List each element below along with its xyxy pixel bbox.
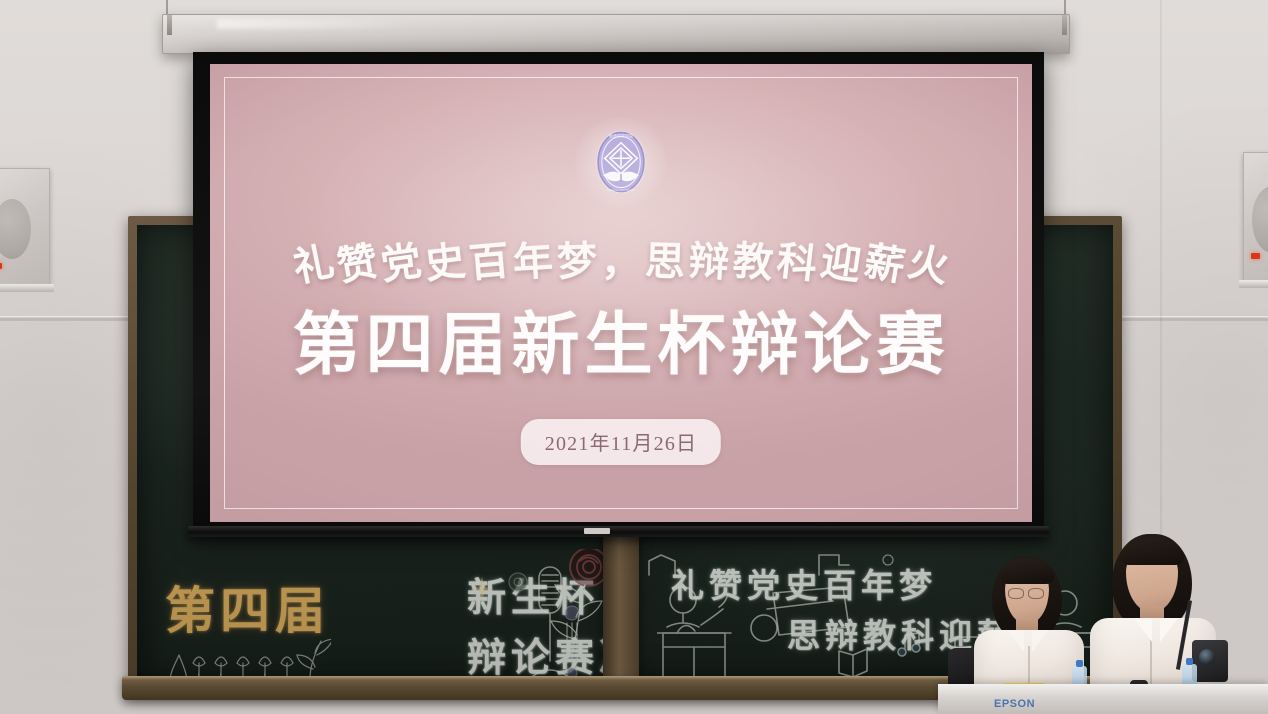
open-book-drawing — [835, 645, 871, 679]
speaker-at-podium-drawing — [657, 585, 751, 685]
slide-subtitle-char: 史 — [423, 241, 467, 285]
slide-subtitle-char: 赞 — [334, 241, 380, 287]
slide-subtitle-char: 迎 — [818, 241, 863, 286]
flag-drawing — [817, 551, 851, 577]
speaker-led-icon — [0, 263, 2, 269]
wall-speaker-right — [1243, 152, 1268, 282]
podium-logo: EPSON — [994, 698, 1035, 710]
chalk-text-left-line1: 第四届 — [165, 571, 330, 643]
slide-subtitle-char: 礼 — [290, 242, 337, 289]
screen-bottom-weight-bar — [188, 526, 1049, 537]
small-circle-drawing — [881, 553, 895, 567]
classroom-scene: 第四届 新生杯 辩论赛决赛 — [0, 0, 1268, 714]
music-note-drawing — [897, 631, 923, 657]
chalkboard-left-panel: 第四届 新生杯 辩论赛决赛 — [137, 549, 603, 685]
slide-subtitle-char: 火 — [905, 242, 952, 289]
rose-drawing — [547, 549, 603, 663]
speaker-lip — [0, 284, 54, 292]
svg-text:教育科学学院: 教育科学学院 — [609, 133, 633, 139]
sparkle-drawing — [471, 577, 493, 601]
slide-title: 第四届新生杯辩论赛 — [210, 310, 1032, 381]
slide-subtitle: 礼赞党史百年梦，思辩教科迎薪火 — [210, 242, 1032, 282]
speaker-cone-icon — [0, 199, 31, 259]
eyeglasses-right-lens — [1028, 588, 1044, 599]
collar-right — [1160, 618, 1178, 642]
slide-subtitle-char: 党 — [379, 241, 424, 286]
slide-subtitle-char: 薪 — [861, 241, 907, 287]
speaker-led-icon — [1251, 253, 1260, 259]
camera-rig — [1192, 640, 1228, 682]
slide-date-badge: 2021年11月26日 — [521, 419, 721, 465]
housing-bracket-left — [167, 15, 172, 35]
eyeglasses-left-lens — [1008, 588, 1024, 599]
university-emblem: 教育科学学院 NORMAL UNIVERSITY — [584, 125, 658, 199]
collar-left — [1008, 630, 1024, 652]
speaker-lip — [1239, 280, 1268, 288]
ring-drawing — [747, 611, 781, 645]
slide-subtitle-char: 教 — [731, 241, 774, 284]
banner-drawing — [647, 553, 677, 577]
slide-subtitle-char: 百 — [467, 241, 510, 284]
slide-subtitle-char: 梦 — [556, 242, 597, 283]
projected-slide: 教育科学学院 NORMAL UNIVERSITY 礼赞党史百年梦，思辩教科迎薪火… — [210, 64, 1032, 522]
slide-subtitle-char: 思 — [644, 242, 685, 283]
judges-table: EPSON — [938, 684, 1268, 714]
wall-speaker-left — [0, 168, 50, 286]
speaker-cone-icon — [1252, 186, 1268, 253]
svg-text:NORMAL UNIVERSITY: NORMAL UNIVERSITY — [607, 189, 635, 192]
projector-screen-housing[interactable] — [162, 14, 1070, 54]
housing-bracket-right — [1062, 15, 1067, 35]
collar-right — [1032, 630, 1048, 652]
slide-subtitle-char: 年 — [512, 241, 554, 283]
slide-subtitle-char: 辩 — [688, 241, 730, 283]
slide-subtitle-char: ， — [601, 242, 641, 282]
slide-subtitle-char: 科 — [775, 241, 819, 285]
collar-left — [1134, 618, 1152, 642]
